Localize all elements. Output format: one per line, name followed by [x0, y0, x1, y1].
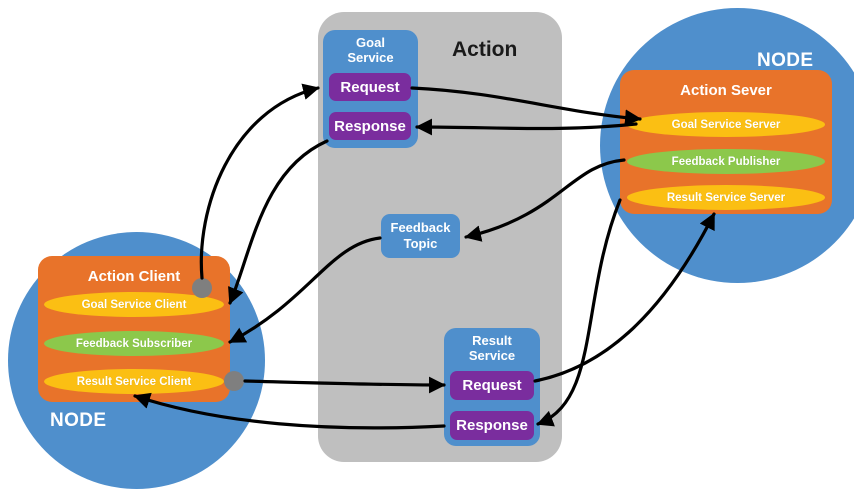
client-result-connector-dot [224, 371, 244, 391]
client-goal-connector-dot [192, 278, 212, 298]
goal-service-response[interactable]: Response [329, 112, 411, 140]
arrow-goal-client-to-request [201, 88, 318, 278]
server-node-label: NODE [757, 50, 814, 72]
goal-service-title-line2: Service [323, 50, 418, 65]
feedback-topic-line1: Feedback [391, 220, 451, 236]
goal-service-title: Goal Service [323, 35, 418, 65]
client-entity-result-service-client[interactable]: Result Service Client [44, 369, 224, 394]
arrow-goal-response-to-client [230, 141, 327, 303]
result-service-title-line2: Service [444, 348, 540, 363]
result-service-request[interactable]: Request [450, 371, 534, 400]
goal-service-title-line1: Goal [323, 35, 418, 50]
result-service-title-line1: Result [444, 333, 540, 348]
result-service-response[interactable]: Response [450, 411, 534, 440]
client-node-label: NODE [50, 410, 107, 432]
client-entity-feedback-subscriber[interactable]: Feedback Subscriber [44, 331, 224, 356]
server-entity-result-service-server[interactable]: Result Service Server [627, 185, 825, 210]
feedback-topic-box[interactable]: Feedback Topic [381, 214, 460, 258]
result-service-title: Result Service [444, 333, 540, 363]
feedback-topic-line2: Topic [404, 236, 438, 252]
server-entity-goal-service-server[interactable]: Goal Service Server [627, 112, 825, 137]
goal-service-request[interactable]: Request [329, 73, 411, 101]
diagram-canvas: Action NODE Action Client Goal Service C… [0, 0, 854, 480]
action-group-title: Action [452, 38, 517, 62]
action-server-title: Action Sever [620, 82, 832, 99]
server-entity-feedback-publisher[interactable]: Feedback Publisher [627, 149, 825, 174]
